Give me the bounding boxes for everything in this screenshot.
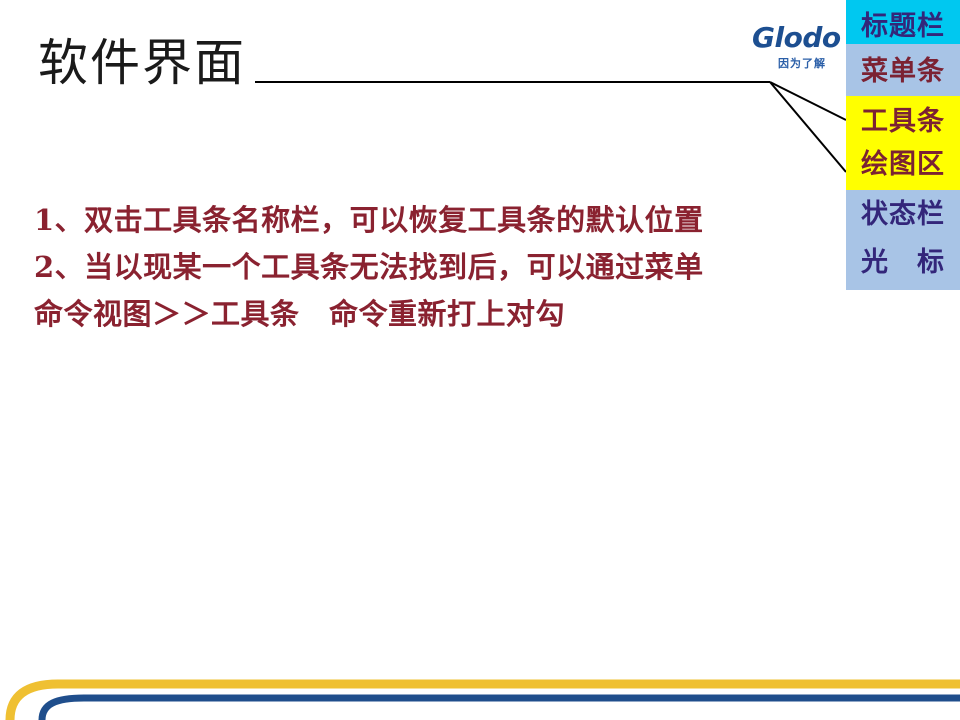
body-line-3: 命令视图＞＞工具条 命令重新打上对勾 (34, 291, 834, 338)
body-text-block: 1、双击工具条名称栏，可以恢复工具条的默认位置 2、当以现某一个工具条无法找到后… (34, 197, 834, 338)
ui-legend-panel: 标题栏 菜单条 工具条 绘图区 状态栏 光 标 (846, 0, 960, 290)
legend-item-toolbar: 工具条 (846, 99, 960, 138)
bottom-decoration (0, 648, 960, 720)
slide-canvas: 软件界面 Glodo 因为了解 标题栏 菜单条 工具条 绘图区 状态栏 光 标 … (0, 0, 960, 720)
legend-item-cursor: 光 标 (846, 240, 960, 279)
legend-item-title-bar: 标题栏 (846, 4, 960, 43)
page-title: 软件界面 (38, 34, 246, 92)
body-line-1: 1、双击工具条名称栏，可以恢复工具条的默认位置 (34, 197, 834, 244)
legend-item-status-bar: 状态栏 (846, 192, 960, 231)
legend-item-menu-bar: 菜单条 (846, 49, 960, 88)
body-line-2: 2、当以现某一个工具条无法找到后，可以通过菜单 (34, 244, 834, 291)
legend-item-drawing-area: 绘图区 (846, 142, 960, 181)
